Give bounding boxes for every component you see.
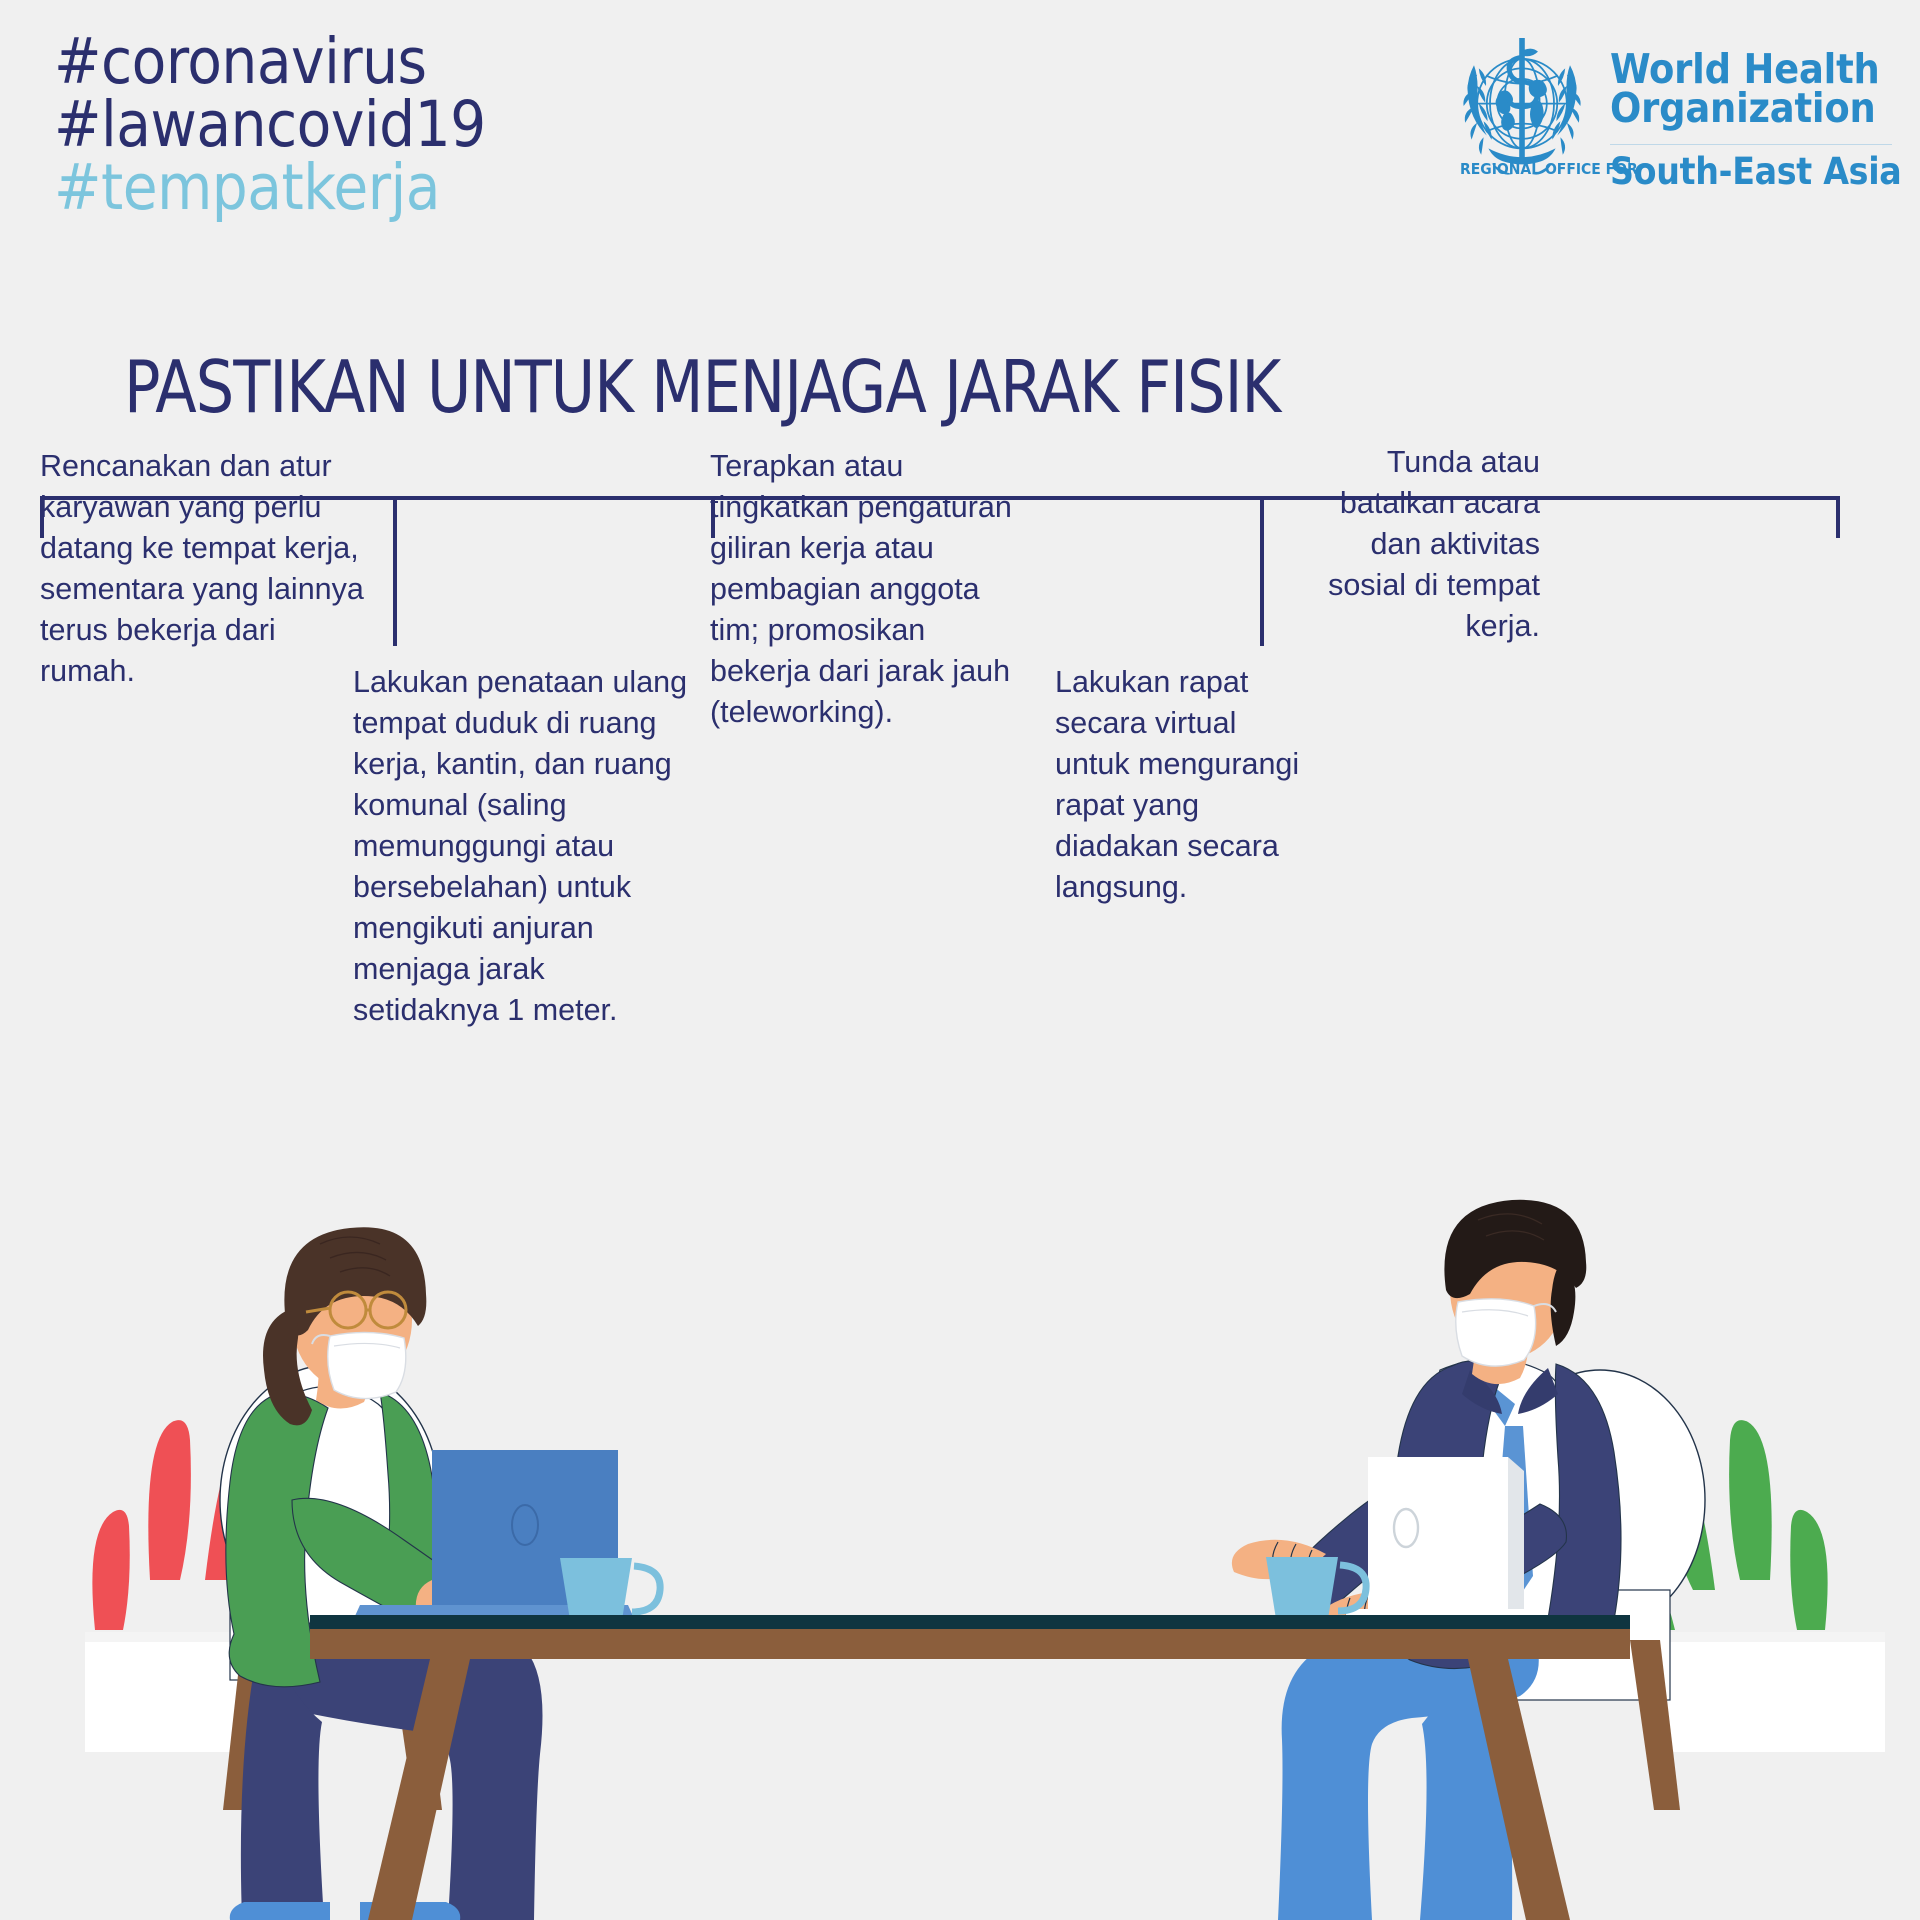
illustration-office-distancing: [0, 1160, 1920, 1920]
tip-column-1: Rencanakan dan atur karyawan yang perlu …: [40, 446, 375, 692]
tip-column-2: Lakukan penataan ulang tempat duduk di r…: [353, 662, 698, 1031]
tip-column-4: Lakukan rapat secara virtual untuk mengu…: [1055, 662, 1305, 908]
tip-column-3: Terapkan atau tingkatkan pengaturan gili…: [710, 446, 1030, 733]
laptop-right-icon: [1346, 1457, 1546, 1623]
tip-column-5: Tunda atau batalkan acara dan aktivitas …: [1290, 442, 1540, 647]
